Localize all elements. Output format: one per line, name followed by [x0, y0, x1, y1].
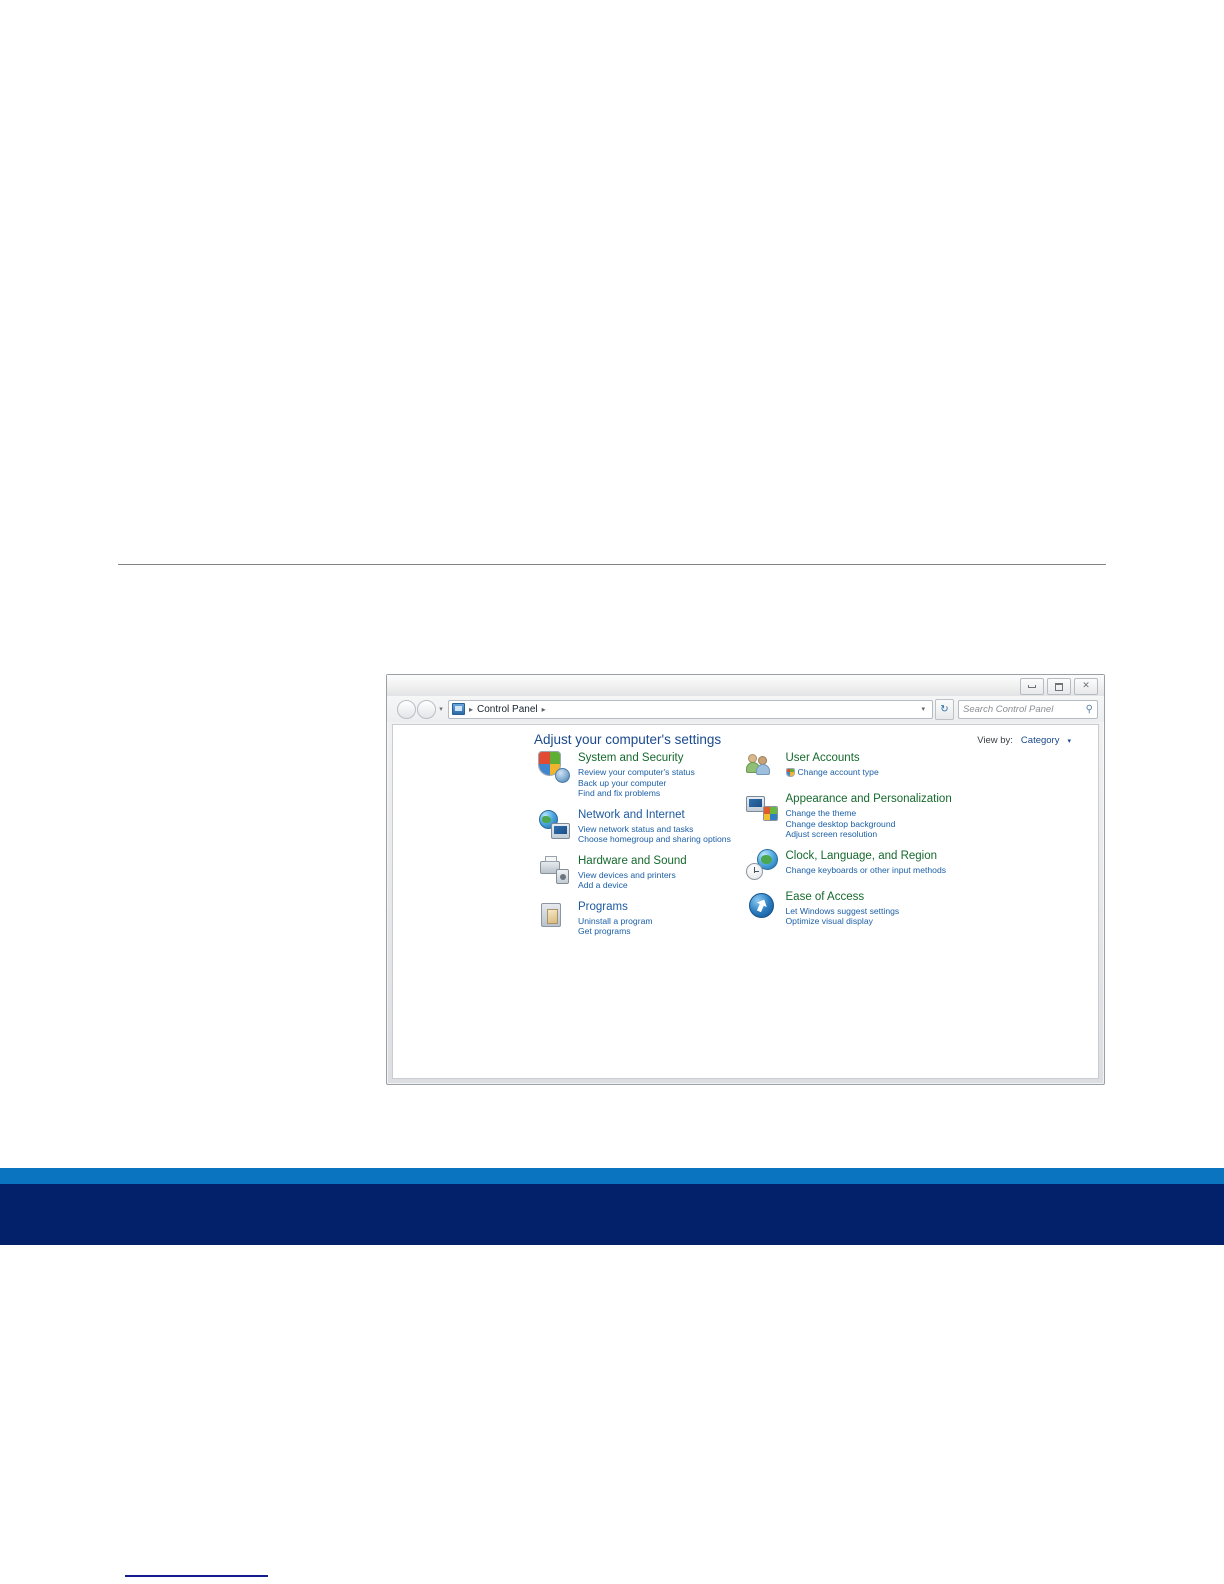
refresh-button[interactable]: ↻	[935, 699, 954, 720]
back-button[interactable]	[397, 700, 416, 719]
category-programs[interactable]: Programs Uninstall a program Get program…	[538, 900, 746, 937]
refresh-icon: ↻	[940, 704, 948, 715]
category-network-and-internet[interactable]: Network and Internet View network status…	[538, 808, 746, 845]
footer-band-light	[0, 1168, 1224, 1184]
category-title[interactable]: User Accounts	[786, 752, 879, 765]
category-body: Ease of Access Let Windows suggest setti…	[786, 890, 900, 927]
category-body: Hardware and Sound View devices and prin…	[578, 854, 687, 891]
minimize-button[interactable]	[1020, 678, 1044, 695]
view-by-label: View by:	[977, 735, 1013, 746]
breadcrumb-separator-icon-2[interactable]: ▸	[538, 705, 550, 714]
address-bar[interactable]: ▸ Control Panel ▸ ▾	[448, 700, 933, 719]
category-link[interactable]: Change the theme	[786, 808, 952, 819]
footer-short-rule	[125, 1575, 268, 1577]
close-button[interactable]: ✕	[1074, 678, 1098, 695]
category-link[interactable]: Back up your computer	[578, 778, 695, 789]
category-link[interactable]: Change account type	[798, 767, 879, 778]
category-system-and-security[interactable]: System and Security Review your computer…	[538, 751, 746, 799]
category-ease-of-access[interactable]: Ease of Access Let Windows suggest setti…	[746, 890, 1099, 927]
window-controls: ✕	[1020, 678, 1098, 695]
ease-of-access-icon	[746, 890, 778, 922]
category-body: Network and Internet View network status…	[578, 808, 731, 845]
maximize-icon	[1055, 683, 1063, 691]
page-title: Adjust your computer's settings	[534, 732, 721, 747]
category-link[interactable]: Change keyboards or other input methods	[786, 865, 947, 876]
history-dropdown-icon[interactable]: ▾	[436, 705, 446, 713]
content-pane: Adjust your computer's settings View by:…	[392, 724, 1099, 1079]
window-titlebar: ✕	[387, 675, 1104, 696]
programs-icon	[538, 900, 570, 932]
forward-button[interactable]	[417, 700, 436, 719]
category-user-accounts[interactable]: User Accounts Change account type	[746, 751, 1099, 783]
navigation-bar: ▾ ▸ Control Panel ▸ ▾ ↻ Search Control P…	[387, 696, 1104, 722]
category-link[interactable]: Review your computer's status	[578, 767, 695, 778]
category-column-right: User Accounts Change account type	[746, 751, 1099, 946]
category-link[interactable]: Find and fix problems	[578, 788, 695, 799]
category-body: System and Security Review your computer…	[578, 751, 695, 799]
category-link[interactable]: Adjust screen resolution	[786, 829, 952, 840]
category-body: Programs Uninstall a program Get program…	[578, 900, 653, 937]
breadcrumb-control-panel[interactable]: Control Panel	[477, 704, 538, 715]
category-title[interactable]: Network and Internet	[578, 809, 731, 822]
hardware-and-sound-icon	[538, 854, 570, 886]
control-panel-window: ✕ ▾ ▸ Control Panel ▸ ▾ ↻ Search Control…	[386, 674, 1105, 1085]
category-appearance-and-personalization[interactable]: Appearance and Personalization Change th…	[746, 792, 1099, 840]
category-link[interactable]: Change desktop background	[786, 819, 952, 830]
view-by-control: View by: Category ▾	[977, 735, 1071, 746]
category-title[interactable]: Programs	[578, 901, 653, 914]
search-input[interactable]: Search Control Panel ⚲	[958, 700, 1098, 719]
uac-shield-icon	[786, 768, 795, 777]
category-link[interactable]: Get programs	[578, 926, 653, 937]
control-panel-icon	[452, 703, 465, 715]
category-link[interactable]: Uninstall a program	[578, 916, 653, 927]
category-link[interactable]: Add a device	[578, 880, 687, 891]
category-body: Clock, Language, and Region Change keybo…	[786, 849, 947, 876]
category-title[interactable]: Ease of Access	[786, 891, 900, 904]
clock-language-and-region-icon	[746, 849, 778, 881]
user-accounts-icon	[746, 751, 778, 783]
footer-band-dark	[0, 1184, 1224, 1245]
chevron-down-icon[interactable]: ▾	[921, 705, 929, 713]
category-body: Appearance and Personalization Change th…	[786, 792, 952, 840]
category-title[interactable]: Clock, Language, and Region	[786, 850, 947, 863]
category-column-left: System and Security Review your computer…	[393, 751, 746, 946]
appearance-and-personalization-icon	[746, 792, 778, 824]
category-hardware-and-sound[interactable]: Hardware and Sound View devices and prin…	[538, 854, 746, 891]
chevron-down-icon[interactable]: ▾	[1067, 737, 1071, 745]
category-title[interactable]: Appearance and Personalization	[786, 793, 952, 806]
minimize-icon	[1028, 685, 1036, 688]
search-icon: ⚲	[1086, 704, 1093, 715]
category-title[interactable]: Hardware and Sound	[578, 855, 687, 868]
category-link[interactable]: Choose homegroup and sharing options	[578, 834, 731, 845]
category-link[interactable]: View devices and printers	[578, 870, 687, 881]
category-link[interactable]: Optimize visual display	[786, 916, 900, 927]
category-title[interactable]: System and Security	[578, 752, 695, 765]
category-grid: System and Security Review your computer…	[393, 751, 1098, 946]
system-and-security-icon	[538, 751, 570, 783]
view-by-value[interactable]: Category	[1021, 735, 1060, 746]
category-clock-language-and-region[interactable]: Clock, Language, and Region Change keybo…	[746, 849, 1099, 881]
category-body: User Accounts Change account type	[786, 751, 879, 778]
close-icon: ✕	[1082, 682, 1090, 691]
network-and-internet-icon	[538, 808, 570, 840]
category-link-row[interactable]: Change account type	[786, 767, 879, 778]
category-link[interactable]: View network status and tasks	[578, 824, 731, 835]
search-placeholder: Search Control Panel	[963, 704, 1086, 715]
breadcrumb-separator-icon: ▸	[465, 705, 477, 714]
maximize-button[interactable]	[1047, 678, 1071, 695]
category-link[interactable]: Let Windows suggest settings	[786, 906, 900, 917]
page-top-divider	[118, 564, 1106, 565]
